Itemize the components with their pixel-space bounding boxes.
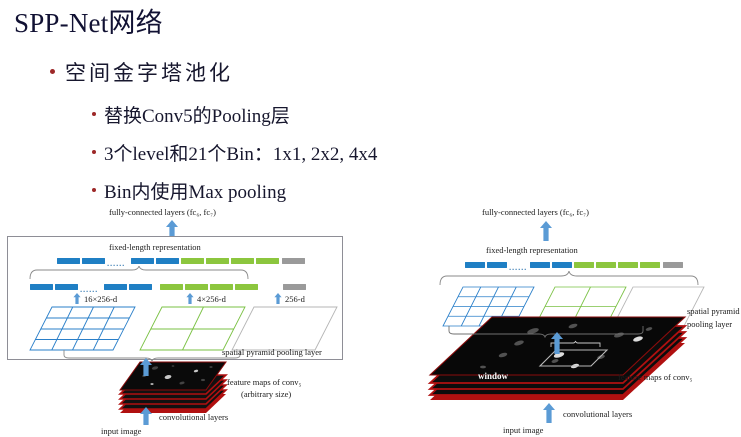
- right-feature-maps-label: feature maps of conv₅: [618, 372, 692, 382]
- left-dim-16x256-label: 16×256-d: [84, 294, 117, 304]
- right-fixed-length-label: fixed-length representation: [486, 245, 578, 255]
- left-feature-maps-stack: [108, 358, 258, 418]
- left-arrow-4x256-icon: [186, 293, 194, 304]
- bullet-dot-icon: [50, 69, 55, 74]
- left-pyramid-grid-2x2: [140, 307, 246, 351]
- left-fc-layers-label: fully-connected layers (fc₆, fc₇): [109, 207, 216, 217]
- left-arrow-to-fc-icon: [165, 220, 179, 236]
- left-pooled-ellipsis: ......: [80, 287, 98, 293]
- right-fc-layers-label: fully-connected layers (fc₆, fc₇): [482, 207, 589, 217]
- left-pyramid-grid-1x1: [232, 307, 338, 351]
- bullet-level2-label: 3个level和21个Bin：1x1, 2x2, 4x4: [104, 144, 377, 165]
- right-pyramid-brace: [447, 326, 647, 338]
- left-fixed-length-label: fixed-length representation: [109, 242, 201, 252]
- left-spp-layer-label: spatial pyramid pooling layer: [222, 347, 322, 357]
- bullet-level2-label: 替换Conv5的Pooling层: [104, 106, 290, 127]
- spp-net-architecture-left: fully-connected layers (fc₆, fc₇) fixed-…: [0, 203, 360, 437]
- left-pyramid-grid-4x4: [30, 307, 136, 351]
- bullet-dot-icon: [92, 112, 96, 116]
- left-arrow-featuremaps-to-spp-icon: [139, 358, 153, 376]
- right-window-label: window: [478, 371, 508, 381]
- bullet-level2-replace-conv5-pooling: 替换Conv5的Pooling层: [92, 101, 290, 128]
- left-concat-brace: [28, 266, 250, 280]
- left-feature-maps-label: feature maps of conv₅: [227, 377, 301, 387]
- bullet-dot-icon: [92, 188, 96, 192]
- right-arrow-window-to-spp-icon: [550, 332, 564, 354]
- right-conv-layers-label: convolutional layers: [563, 409, 632, 419]
- bullet-level2-max-pooling: Bin内使用Max pooling: [92, 177, 286, 204]
- left-arrow-256-icon: [274, 293, 282, 304]
- left-input-image-label: input image: [101, 426, 141, 436]
- right-arrow-to-fc-icon: [539, 221, 553, 241]
- left-dim-4x256-label: 4×256-d: [197, 294, 226, 304]
- right-concat-brace: [438, 271, 700, 286]
- left-conv-layers-label: convolutional layers: [159, 412, 228, 422]
- left-arrow-conv-layers-icon: [139, 407, 153, 425]
- left-feature-maps-sublabel: (arbitrary size): [241, 389, 291, 399]
- page-title: SPP-Net网络: [14, 8, 163, 38]
- bullet-dot-icon: [92, 150, 96, 154]
- bullet-level1-spatial-pyramid-pooling: 空间金字塔池化: [50, 57, 233, 87]
- right-input-image-label: input image: [503, 425, 543, 435]
- left-arrow-16x256-icon: [73, 293, 81, 304]
- bullet-level2-levels-and-bins: 3个level和21个Bin：1x1, 2x2, 4x4: [92, 139, 377, 166]
- spp-net-architecture-right: fully-connected layers (fc₆, fc₇) fixed-…: [381, 203, 741, 437]
- bullet-level2-label: Bin内使用Max pooling: [104, 182, 286, 203]
- right-spp-layer-label-line1: spatial pyramid: [687, 306, 740, 316]
- bullet-level1-label: 空间金字塔池化: [65, 61, 233, 85]
- left-dim-256-label: 256-d: [285, 294, 305, 304]
- right-arrow-conv-layers-icon: [542, 403, 556, 423]
- right-spp-layer-label-line2: pooling layer: [687, 319, 732, 329]
- slide-canvas: SPP-Net网络 空间金字塔池化 替换Conv5的Pooling层 3个lev…: [0, 0, 741, 437]
